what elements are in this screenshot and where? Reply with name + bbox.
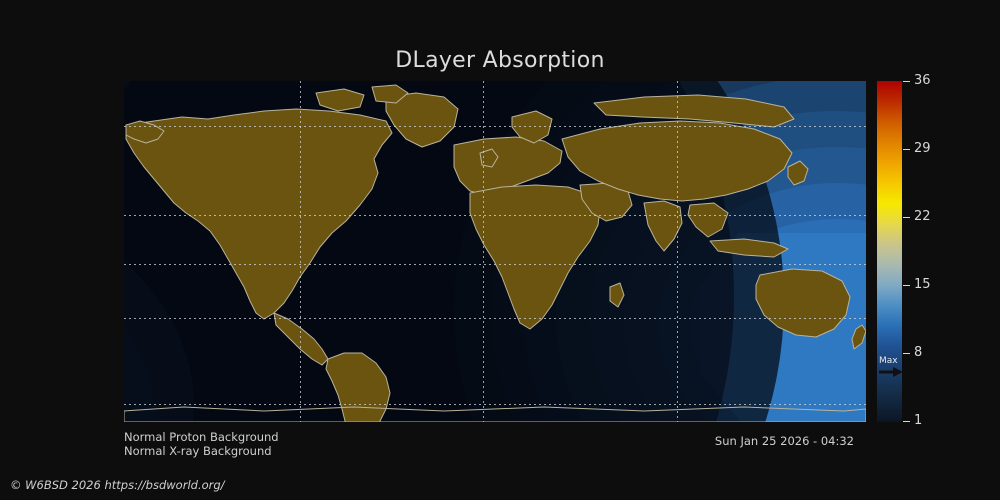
colorbar-label-1: 1: [914, 413, 922, 428]
world-coastlines: [124, 81, 866, 422]
graticule-lon-w90: [300, 81, 301, 422]
map-plot-area: [124, 81, 866, 422]
graticule-lon-e90: [677, 81, 678, 422]
colorbar-tick-29: [903, 149, 910, 150]
graticule-lat-equator: [124, 264, 866, 265]
colorbar-tick-15: [903, 285, 910, 286]
graticule-lon-0: [483, 81, 484, 422]
arrow-right-icon: [879, 366, 903, 378]
colorbar-label-22: 22: [914, 209, 931, 224]
graticule-lat-60n: [124, 126, 866, 127]
colorbar-label-29: 29: [914, 141, 931, 156]
proton-background-note: Normal Proton Background: [124, 430, 279, 444]
colorbar-axis-label: Affected Frequency (MHz): [930, 81, 1000, 422]
colorbar-tick-22: [903, 217, 910, 218]
colorbar-max-label: Max: [879, 356, 903, 366]
colorbar-max-marker: Max: [879, 356, 903, 380]
colorbar-tick-36: [903, 81, 910, 82]
page-title: DLayer Absorption: [0, 48, 1000, 73]
colorbar-tick-8: [903, 353, 910, 354]
graticule-lat-30n: [124, 215, 866, 216]
colorbar-label-36: 36: [914, 73, 931, 88]
timestamp-label: Sun Jan 25 2026 - 04:32: [715, 434, 854, 448]
graticule-lat-30s: [124, 318, 866, 319]
colorbar-label-8: 8: [914, 345, 922, 360]
credit-footer: © W6BSD 2026 https://bsdworld.org/: [10, 478, 225, 492]
xray-background-note: Normal X-ray Background: [124, 444, 272, 458]
colorbar-tick-1: [903, 421, 910, 422]
graticule-lat-60s: [124, 404, 866, 405]
colorbar-label-15: 15: [914, 277, 931, 292]
dlayer-absorption-page: DLayer Absorption: [0, 0, 1000, 500]
